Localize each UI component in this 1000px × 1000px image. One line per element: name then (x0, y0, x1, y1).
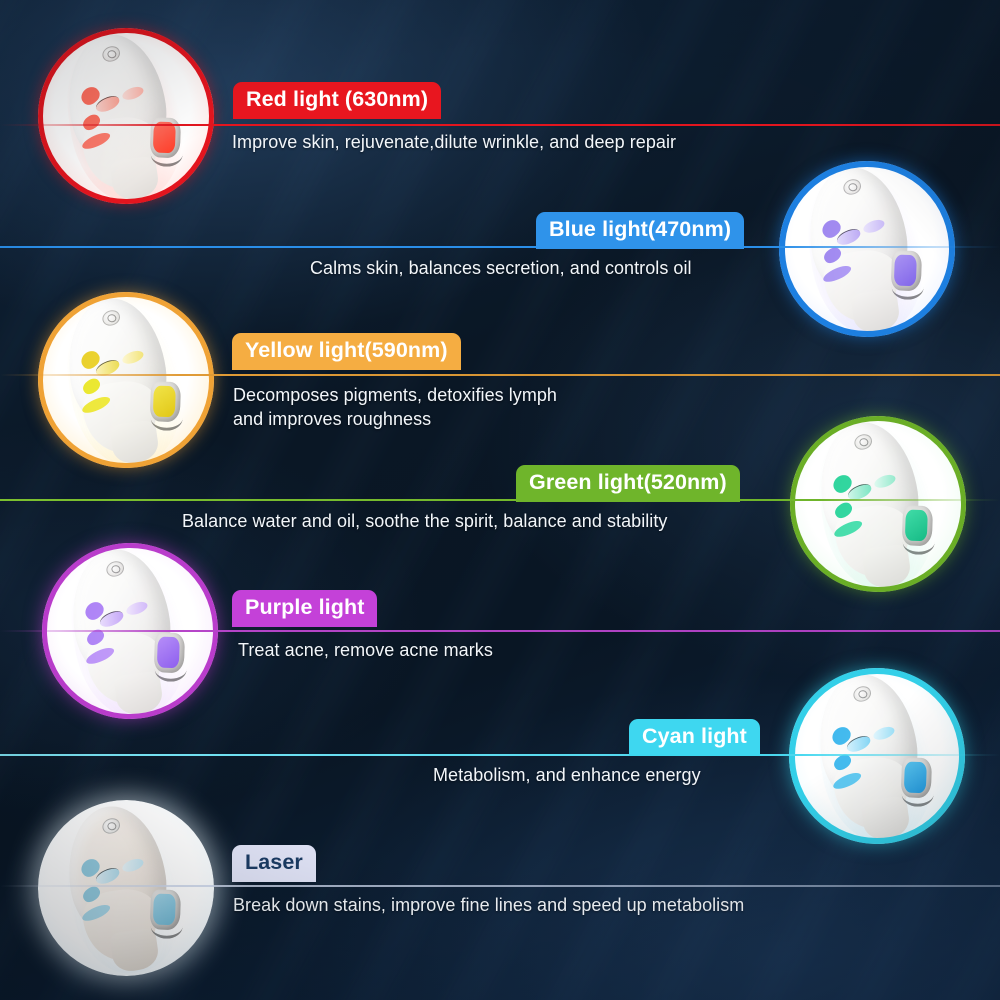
divider-yellow (0, 374, 1000, 376)
mask-ring-yellow (38, 292, 214, 468)
label-red: Red light (630nm) (233, 82, 441, 119)
label-cyan: Cyan light (629, 719, 760, 756)
description-red: Improve skin, rejuvenate,dilute wrinkle,… (232, 130, 676, 154)
mask-ring-red (38, 28, 214, 204)
label-laser: Laser (232, 845, 316, 882)
mask-ring-blue (779, 161, 955, 337)
label-purple: Purple light (232, 590, 377, 627)
description-laser: Break down stains, improve fine lines an… (233, 893, 744, 917)
led-mask-blue-photo (779, 161, 955, 337)
divider-laser (0, 885, 1000, 887)
led-mask-red-photo (38, 28, 214, 204)
label-yellow: Yellow light(590nm) (232, 333, 461, 370)
mask-ring-green (790, 416, 966, 592)
description-purple: Treat acne, remove acne marks (238, 638, 493, 662)
led-mask-cyan-photo (789, 668, 965, 844)
led-mask-laser-photo (38, 800, 214, 976)
divider-red (0, 124, 1000, 126)
divider-cyan (0, 754, 1000, 756)
mask-ring-cyan (789, 668, 965, 844)
label-green: Green light(520nm) (516, 465, 740, 502)
description-green: Balance water and oil, soothe the spirit… (182, 509, 667, 533)
mask-ring-laser (38, 800, 214, 976)
description-blue: Calms skin, balances secretion, and cont… (310, 256, 692, 280)
divider-purple (0, 630, 1000, 632)
led-mask-green-photo (790, 416, 966, 592)
label-blue: Blue light(470nm) (536, 212, 744, 249)
divider-blue (0, 246, 1000, 248)
led-mask-yellow-photo (38, 292, 214, 468)
infographic-page: Red light (630nm) Improve skin, rejuvena… (0, 0, 1000, 1000)
divider-green (0, 499, 1000, 501)
description-yellow: Decomposes pigments, detoxifies lymph an… (233, 383, 557, 432)
description-cyan: Metabolism, and enhance energy (433, 763, 701, 787)
